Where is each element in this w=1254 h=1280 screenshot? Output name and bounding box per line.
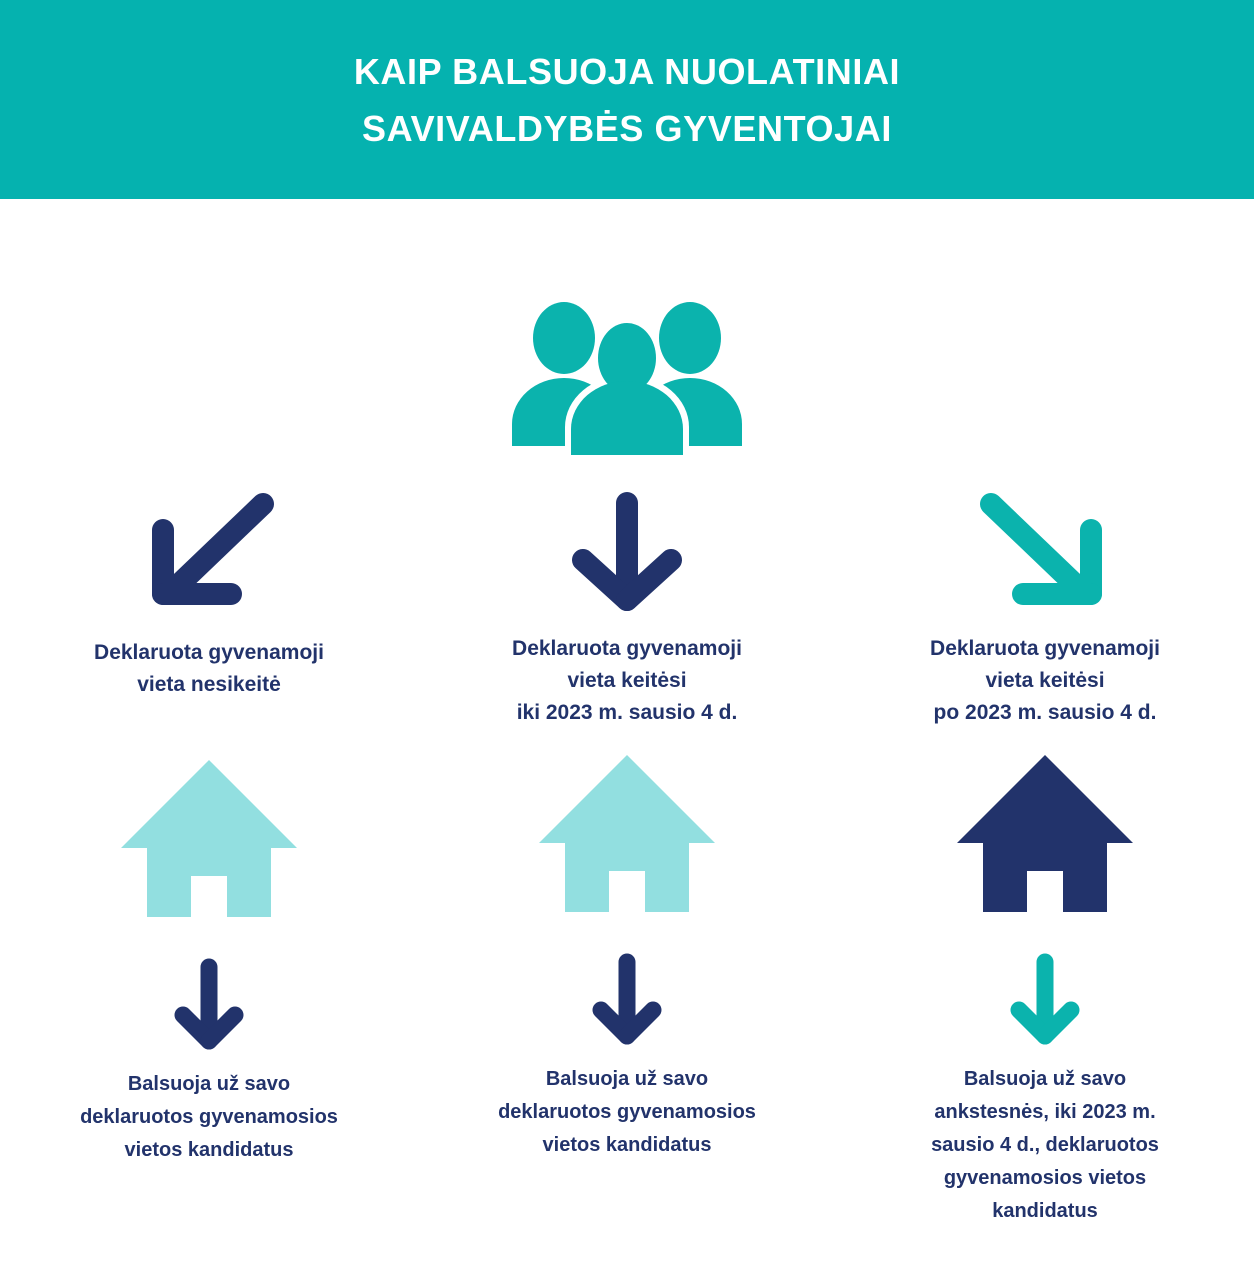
arrow-down-left-icon — [139, 490, 279, 615]
result-text-strong: iki 2023 m. — [1054, 1101, 1155, 1123]
result-line: deklaruotos gyvenamosios — [442, 1096, 812, 1129]
result-line: vietos kandidatus — [442, 1129, 812, 1162]
result-text-strong: sausio 4 d. — [931, 1134, 1034, 1156]
label-line: Deklaruota gyvenamoji — [850, 633, 1240, 665]
result-line: vietos kandidatus — [24, 1134, 394, 1167]
arrow-down-right-icon — [975, 490, 1115, 615]
label-line: vieta nesikeitė — [14, 669, 404, 701]
house-icon — [537, 751, 717, 916]
page-title-line-1: KAIP BALSUOJA NUOLATINIAI — [354, 43, 900, 100]
columns-container: Deklaruota gyvenamoji vieta nesikeitė — [0, 490, 1254, 1228]
infographic-root: KAIP BALSUOJA NUOLATINIAI SAVIVALDYBĖS G… — [0, 0, 1254, 1280]
result-text: gyvenamosios vietos — [944, 1167, 1146, 1189]
result-line: sausio 4 d., deklaruotos — [860, 1129, 1230, 1162]
result-line: Balsuoja už savo — [442, 1063, 812, 1096]
result-line: deklaruotos gyvenamosios — [24, 1101, 394, 1134]
column-nesikeite: Deklaruota gyvenamoji vieta nesikeitė — [0, 490, 418, 1228]
people-group-icon — [502, 300, 752, 455]
label-line: iki 2023 m. sausio 4 d. — [432, 697, 822, 729]
column-keitesi-po: Deklaruota gyvenamoji vieta keitėsi po 2… — [836, 490, 1254, 1228]
label-line: vieta keitėsi — [432, 665, 822, 697]
column-result-text: Balsuoja už savo deklaruotos gyvenamosio… — [418, 1063, 836, 1162]
label-line: vieta keitėsi — [850, 665, 1240, 697]
result-line: Balsuoja už savo — [860, 1063, 1230, 1096]
result-line: kandidatus — [860, 1195, 1230, 1228]
arrow-down-icon — [1009, 952, 1081, 1047]
house-wrapper — [537, 751, 717, 916]
house-icon — [955, 751, 1135, 916]
house-wrapper — [119, 756, 299, 921]
house-wrapper — [955, 751, 1135, 916]
arrow-down-icon — [567, 490, 687, 615]
column-result-text: Balsuoja už savo ankstesnės, iki 2023 m.… — [836, 1063, 1254, 1228]
result-text: Balsuoja už savo — [964, 1068, 1126, 1090]
result-text: , deklaruotos — [1034, 1134, 1158, 1156]
label-line: Deklaruota gyvenamoji — [432, 633, 822, 665]
label-line: po 2023 m. sausio 4 d. — [850, 697, 1240, 729]
label-line: Deklaruota gyvenamoji — [14, 637, 404, 669]
result-line: ankstesnės, iki 2023 m. — [860, 1096, 1230, 1129]
column-keitesi-iki: Deklaruota gyvenamoji vieta keitėsi iki … — [418, 490, 836, 1228]
arrow-down-icon — [173, 957, 245, 1052]
result-line: gyvenamosios vietos — [860, 1162, 1230, 1195]
result-text: kandidatus — [992, 1200, 1098, 1222]
column-label: Deklaruota gyvenamoji vieta keitėsi po 2… — [836, 633, 1254, 729]
arrow-down-icon — [591, 952, 663, 1047]
column-result-text: Balsuoja už savo deklaruotos gyvenamosio… — [0, 1068, 418, 1167]
column-label: Deklaruota gyvenamoji vieta nesikeitė — [0, 637, 418, 701]
header-band: KAIP BALSUOJA NUOLATINIAI SAVIVALDYBĖS G… — [0, 0, 1254, 199]
house-icon — [119, 756, 299, 921]
column-label: Deklaruota gyvenamoji vieta keitėsi iki … — [418, 633, 836, 729]
result-text: ankstesnės, — [934, 1101, 1054, 1123]
result-line: Balsuoja už savo — [24, 1068, 394, 1101]
page-title-line-2: SAVIVALDYBĖS GYVENTOJAI — [362, 100, 892, 157]
